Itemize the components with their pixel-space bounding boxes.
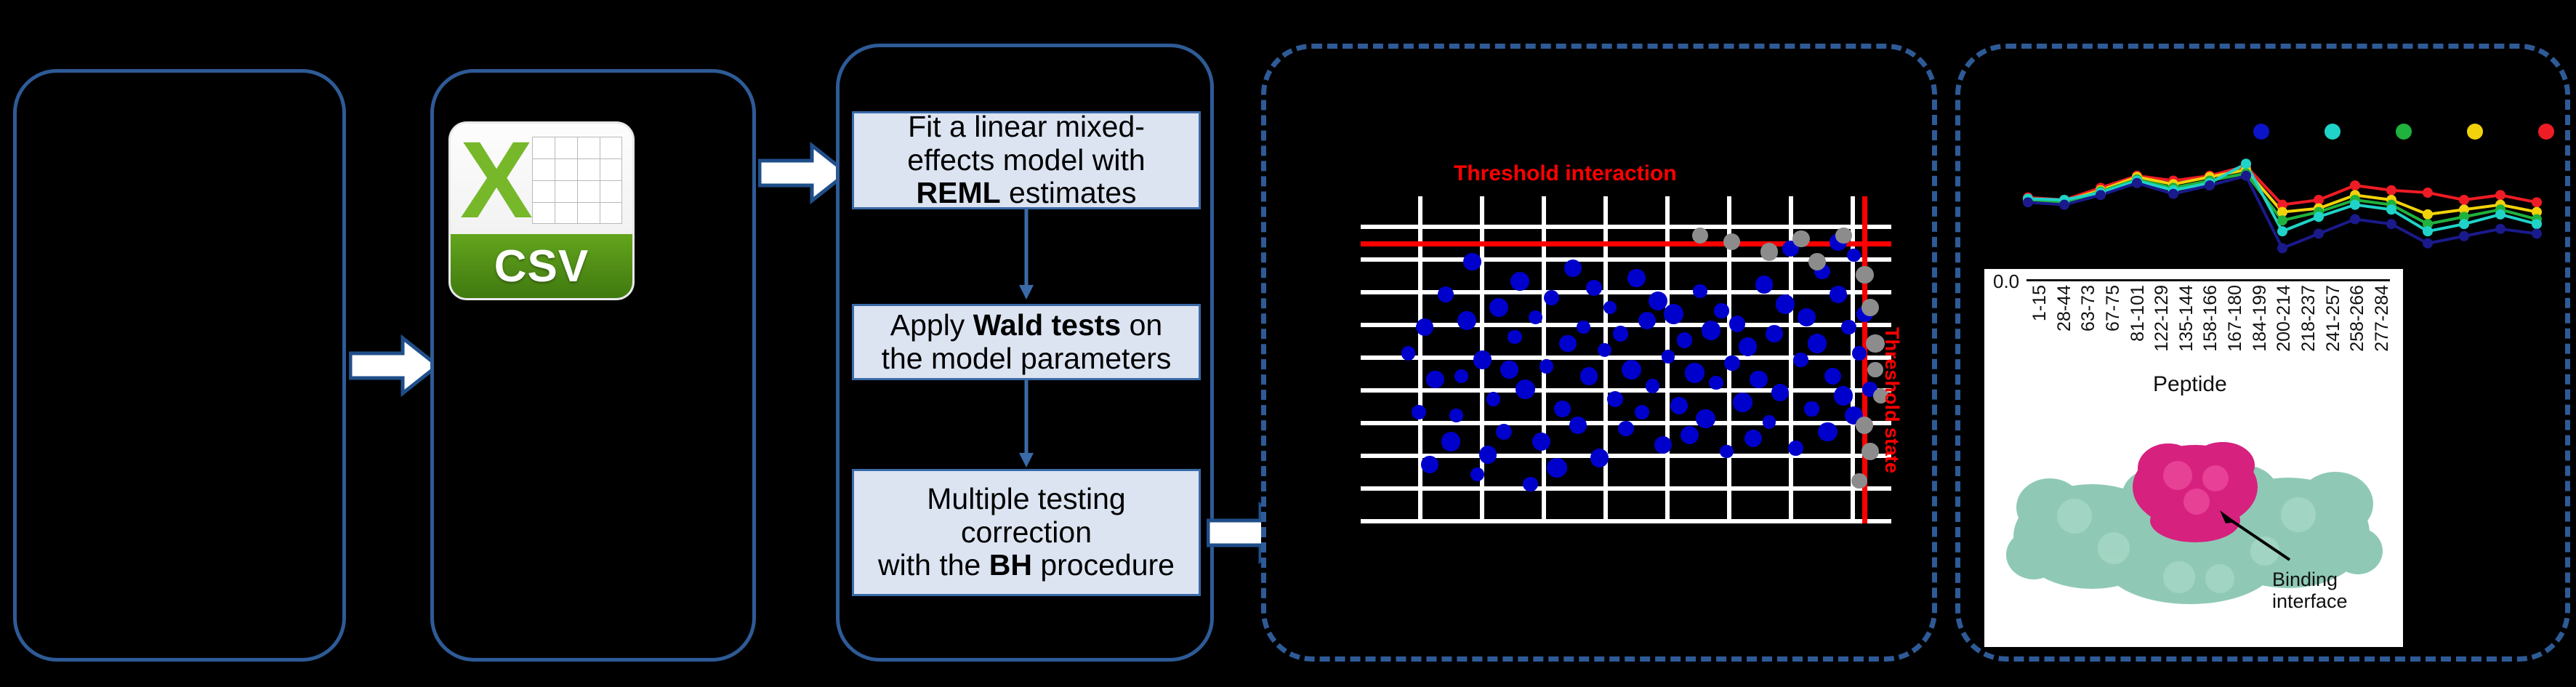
fit-model-step-line: effects model with xyxy=(907,144,1145,177)
volcano-point xyxy=(1670,397,1688,414)
volcano-point xyxy=(1755,276,1773,293)
fit-model-step[interactable]: Fit a linear mixed-effects model withREM… xyxy=(852,111,1201,209)
profile-marker xyxy=(2532,228,2542,238)
peptide-tick-label: 122-129 xyxy=(2152,285,2173,352)
profile-marker xyxy=(2386,219,2396,229)
profile-marker xyxy=(2314,228,2324,238)
volcano-point xyxy=(1638,312,1656,329)
volcano-point xyxy=(1470,467,1484,481)
volcano-point xyxy=(1454,369,1468,383)
volcano-point xyxy=(1559,335,1577,353)
bh-correction-step-line: Multiple testing xyxy=(878,483,1175,516)
input-panel xyxy=(13,69,346,662)
volcano-point xyxy=(1646,379,1659,393)
volcano-point xyxy=(1627,269,1646,287)
volcano-point xyxy=(1479,446,1497,464)
peptide-tick-label: 67-75 xyxy=(2103,285,2124,332)
profile-marker xyxy=(2459,195,2469,205)
volcano-point xyxy=(1788,441,1803,456)
volcano-point xyxy=(1416,318,1433,336)
volcano-point xyxy=(1776,294,1795,314)
peptide-tick-label: 81-101 xyxy=(2128,285,2149,342)
volcano-point xyxy=(1516,379,1535,399)
volcano-point xyxy=(1760,243,1778,260)
volcano-point xyxy=(1861,443,1880,461)
volcano-point xyxy=(1852,346,1867,361)
volcano-point xyxy=(1804,401,1819,416)
binding-interface-annotation: Binding interface xyxy=(2272,569,2348,612)
volcano-point xyxy=(1729,316,1745,332)
volcano-point xyxy=(1547,458,1567,478)
volcano-point xyxy=(1693,284,1707,299)
volcano-point xyxy=(1763,415,1776,429)
volcano-point xyxy=(1510,272,1529,291)
legend-dot-blue xyxy=(2253,124,2269,140)
volcano-point xyxy=(1723,233,1740,250)
profile-marker xyxy=(2495,224,2505,234)
volcano-point xyxy=(1426,371,1444,389)
profile-marker xyxy=(2459,219,2469,229)
volcano-point xyxy=(1457,311,1476,329)
threshold-interaction-label: Threshold interaction xyxy=(1454,161,1677,186)
volcano-point xyxy=(1714,303,1728,318)
profile-marker xyxy=(2386,185,2396,196)
volcano-point xyxy=(1664,304,1683,324)
volcano-point xyxy=(1401,346,1415,360)
volcano-point xyxy=(1412,405,1426,419)
volcano-point xyxy=(1564,260,1582,277)
profile-marker xyxy=(2423,188,2433,198)
volcano-point xyxy=(1438,286,1454,302)
volcano-point xyxy=(1607,391,1623,407)
volcano-point xyxy=(1750,371,1767,388)
peptide-axis-ticks: 1-1528-4463-7367-7581-101122-129135-1441… xyxy=(2029,285,2393,372)
volcano-point xyxy=(1771,384,1789,401)
legend-dot-cyan xyxy=(2325,124,2340,140)
peptide-axis-line xyxy=(2026,279,2390,281)
volcano-point xyxy=(1744,430,1763,448)
volcano-point xyxy=(1808,253,1827,271)
volcano-point xyxy=(1590,449,1609,467)
volcano-point xyxy=(1441,432,1460,451)
profile-marker xyxy=(2168,189,2178,199)
volcano-point xyxy=(1598,343,1611,357)
volcano-point xyxy=(1739,337,1757,355)
peptide-tick-label: 158-166 xyxy=(2200,285,2221,352)
profile-marker xyxy=(2096,190,2106,200)
volcano-point xyxy=(1681,426,1699,444)
volcano-point xyxy=(1577,321,1590,334)
profile-marker xyxy=(2495,209,2505,220)
y-axis-zero-tick: 0.0 xyxy=(1993,270,2019,293)
volcano-point xyxy=(1692,228,1708,244)
volcano-point xyxy=(1622,360,1642,380)
csv-file-icon: X CSV xyxy=(451,124,632,298)
profile-marker xyxy=(2459,231,2469,241)
arrow-wald-to-bh xyxy=(1017,380,1036,469)
legend-dot-red xyxy=(2538,124,2554,140)
peptide-tick-label: 63-73 xyxy=(2078,285,2099,332)
volcano-point-cloud xyxy=(1361,196,1891,523)
volcano-point xyxy=(1856,417,1873,434)
csv-icon-band: CSV xyxy=(451,234,632,298)
wald-tests-step[interactable]: Apply Wald tests onthe model parameters xyxy=(852,304,1201,380)
profile-marker xyxy=(2277,215,2287,225)
volcano-point xyxy=(1830,286,1848,304)
profile-marker xyxy=(2532,197,2542,207)
volcano-point xyxy=(1554,401,1571,417)
wald-tests-step-text: Apply Wald tests onthe model parameters xyxy=(882,309,1172,376)
volcano-point xyxy=(1835,228,1852,244)
volcano-point xyxy=(1486,392,1501,406)
profile-marker xyxy=(2241,171,2251,181)
volcano-point xyxy=(1654,436,1672,454)
peptide-tick-label: 28-44 xyxy=(2054,285,2075,332)
volcano-point xyxy=(1685,363,1704,382)
peptide-tick-label: 167-180 xyxy=(2225,285,2246,352)
fit-model-step-line: REML estimates xyxy=(907,177,1145,210)
volcano-point xyxy=(1649,292,1667,310)
volcano-point xyxy=(1449,409,1462,422)
volcano-point xyxy=(1603,301,1617,314)
volcano-point xyxy=(1500,361,1518,379)
fit-model-step-line: Fit a linear mixed- xyxy=(907,111,1145,144)
profile-marker xyxy=(2532,219,2542,229)
wald-tests-step-line: the model parameters xyxy=(882,342,1172,376)
volcano-point xyxy=(1421,456,1438,473)
volcano-point xyxy=(1841,320,1856,335)
csv-icon-label: CSV xyxy=(494,241,589,292)
legend-dot-green xyxy=(2396,124,2412,140)
peptide-tick-label: 258-266 xyxy=(2347,285,2368,352)
profile-marker xyxy=(2059,200,2069,210)
profile-marker xyxy=(2386,204,2396,214)
volcano-point xyxy=(1720,445,1734,459)
volcano-point xyxy=(1793,353,1808,368)
volcano-point xyxy=(1851,473,1867,489)
csv-icon-sheet: X xyxy=(451,124,632,234)
volcano-point xyxy=(1544,290,1559,305)
wald-tests-step-line: Apply Wald tests on xyxy=(882,309,1172,342)
volcano-point xyxy=(1766,325,1783,342)
volcano-point xyxy=(1824,368,1841,385)
volcano-point xyxy=(1635,405,1649,419)
volcano-point xyxy=(1532,433,1550,451)
fit-model-step-text: Fit a linear mixed-effects model withREM… xyxy=(907,111,1145,211)
profile-marker xyxy=(2023,197,2033,207)
profile-marker xyxy=(2277,243,2287,253)
legend-dot-yellow xyxy=(2467,124,2483,140)
volcano-point xyxy=(1496,424,1512,440)
peptide-tick-label: 218-237 xyxy=(2298,285,2319,352)
arrow-fit-to-wald xyxy=(1017,209,1036,301)
volcano-point xyxy=(1618,421,1634,437)
volcano-point xyxy=(1861,299,1879,316)
peptide-tick-label: 1-15 xyxy=(2029,285,2050,321)
volcano-point xyxy=(1529,310,1542,324)
profile-marker xyxy=(2495,190,2505,200)
volcano-point xyxy=(1489,298,1508,317)
profile-marker xyxy=(2423,238,2433,249)
peptide-tick-label: 200-214 xyxy=(2274,285,2295,352)
peptide-tick-label: 277-284 xyxy=(2372,285,2393,352)
bh-correction-step[interactable]: Multiple testingcorrectionwith the BH pr… xyxy=(852,469,1201,596)
volcano-point xyxy=(1724,355,1739,371)
volcano-point xyxy=(1733,393,1752,411)
profile-marker xyxy=(2205,180,2215,190)
volcano-point xyxy=(1808,334,1827,353)
volcano-point xyxy=(1798,308,1816,326)
peptide-profile-legend xyxy=(2006,124,2559,167)
profile-marker xyxy=(2350,180,2360,190)
profile-marker xyxy=(2314,212,2324,222)
profile-marker xyxy=(2423,226,2433,236)
profile-marker xyxy=(2277,226,2287,236)
volcano-point xyxy=(1834,386,1853,405)
binding-interface-line-1: Binding xyxy=(2272,569,2348,590)
peptide-tick-label: 135-144 xyxy=(2176,285,2197,352)
volcano-point xyxy=(1539,359,1554,374)
csv-icon-grid xyxy=(532,137,622,224)
arrow-input-to-data xyxy=(349,334,440,397)
peptide-tick-label: 241-257 xyxy=(2323,285,2344,352)
volcano-point xyxy=(1818,422,1838,442)
binding-interface-line-2: interface xyxy=(2272,590,2348,612)
profile-marker xyxy=(2132,178,2142,188)
profile-marker xyxy=(2350,214,2360,225)
bh-correction-step-line: with the BH procedure xyxy=(878,549,1175,582)
peptide-axis-label: Peptide xyxy=(2153,372,2227,397)
volcano-point xyxy=(1508,330,1522,345)
volcano-point xyxy=(1473,350,1492,369)
volcano-point xyxy=(1613,326,1628,341)
volcano-point xyxy=(1662,350,1675,363)
volcano-point xyxy=(1586,280,1602,296)
profile-marker xyxy=(2423,209,2433,220)
bh-correction-step-line: correction xyxy=(878,516,1175,550)
threshold-state-label: Threshold state xyxy=(1880,327,1903,473)
volcano-plot xyxy=(1361,196,1891,523)
bh-correction-step-text: Multiple testingcorrectionwith the BH pr… xyxy=(878,483,1175,583)
volcano-point xyxy=(1580,367,1598,385)
volcano-point xyxy=(1702,321,1721,340)
volcano-point xyxy=(1569,417,1587,434)
volcano-point xyxy=(1847,249,1861,262)
csv-icon-letter: X xyxy=(456,125,536,234)
volcano-point xyxy=(1856,266,1873,284)
volcano-point xyxy=(1792,230,1810,248)
volcano-point xyxy=(1523,477,1538,492)
volcano-point xyxy=(1696,409,1715,429)
peptide-tick-label: 184-199 xyxy=(2250,285,2271,352)
pipeline-figure: X CSV Fit a linear mixed-effects model w… xyxy=(0,0,2576,687)
volcano-point xyxy=(1709,376,1723,390)
volcano-point xyxy=(1463,253,1481,271)
protein-figure-card: 0.0 1-1528-4463-7367-7581-101122-129135-… xyxy=(1984,269,2403,647)
volcano-point xyxy=(1677,332,1692,347)
profile-marker xyxy=(2350,200,2360,210)
